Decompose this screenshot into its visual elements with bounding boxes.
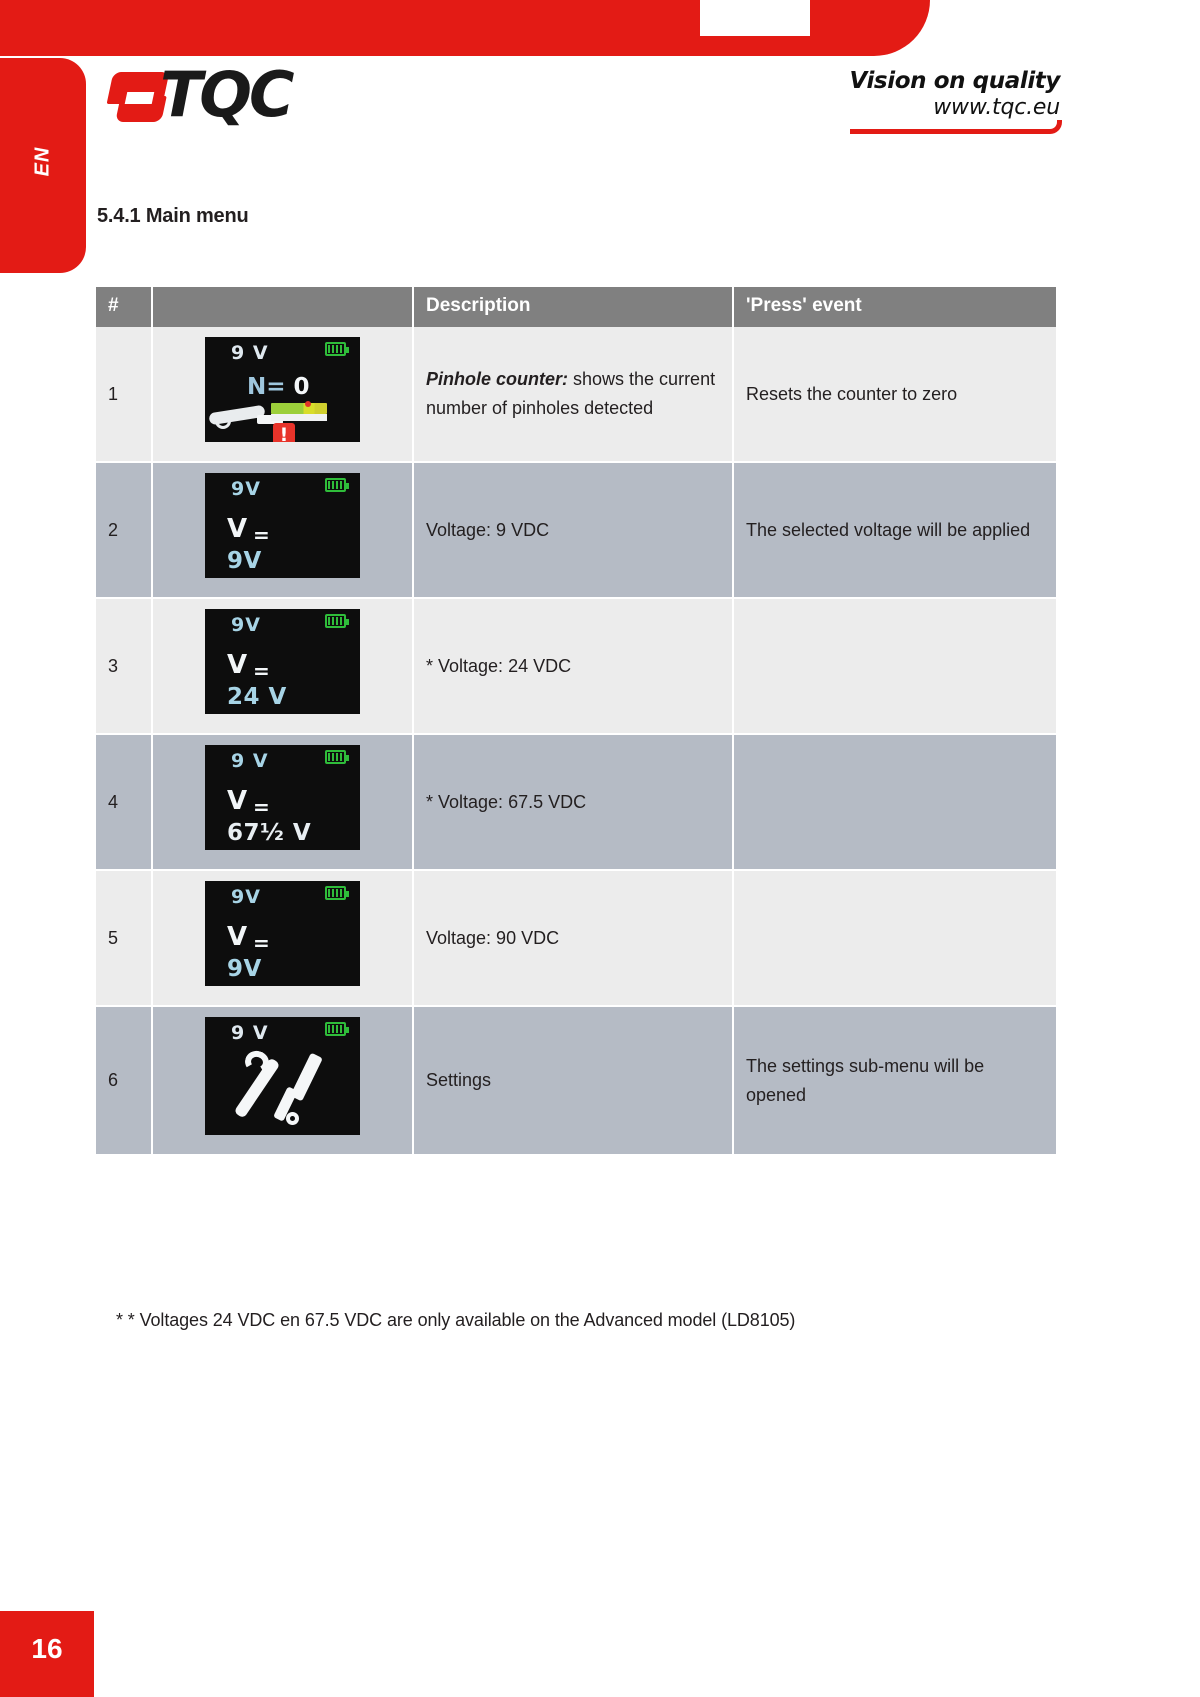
signal-bar-base: [271, 414, 327, 421]
column-header-screen: [152, 287, 413, 327]
lcd-v-symbol: V: [227, 651, 247, 680]
lcd-v-symbol: V: [227, 923, 247, 952]
tagline-swoosh-decoration: [850, 120, 1062, 134]
lcd-voltage-label: 9 V: [231, 339, 269, 368]
lcd-counter-value: 0: [294, 374, 310, 400]
row-number: 6: [96, 1006, 152, 1155]
lcd-counter-prefix: N=: [247, 374, 286, 400]
lcd-screen-settings: 9 V: [205, 1017, 360, 1135]
row-number: 5: [96, 870, 152, 1006]
alert-icon: [273, 423, 295, 442]
description-emphasis: Pinhole counter:: [426, 369, 568, 389]
row-screen-cell: 9 V V = 67½ V: [152, 734, 413, 870]
tqc-logo-mark-icon: [108, 72, 166, 122]
signal-bar-marker: [305, 401, 311, 407]
row-number: 1: [96, 327, 152, 462]
lcd-voltage-label: 9 V: [231, 747, 269, 776]
table-header-row: # Description 'Press' event: [96, 287, 1056, 327]
row-number: 3: [96, 598, 152, 734]
row-press-event: [733, 870, 1056, 1006]
row-press-event: [733, 598, 1056, 734]
signal-bar-indicator: [271, 403, 327, 414]
row-description: * Voltage: 24 VDC: [413, 598, 733, 734]
description-text: Voltage: 90 VDC: [426, 928, 559, 948]
row-number: 4: [96, 734, 152, 870]
brand-tagline: Vision on quality www.tqc.eu: [760, 68, 1060, 121]
table-row: 4 9 V V = 67½ V * Voltage: 67.5 VDC: [96, 734, 1056, 870]
banner-notch: [700, 0, 810, 36]
lcd-counter: N= 0: [247, 373, 310, 402]
main-menu-table: # Description 'Press' event 1 9 V N= 0: [96, 287, 1056, 1156]
row-description: Voltage: 9 VDC: [413, 462, 733, 598]
lcd-equals-symbol: =: [253, 657, 270, 686]
language-tab-en: EN: [0, 58, 86, 273]
row-description: Voltage: 90 VDC: [413, 870, 733, 1006]
tqc-logo-text: TQC: [160, 64, 292, 126]
row-screen-cell: 9 V: [152, 1006, 413, 1155]
lcd-voltage-label: 9V: [231, 611, 261, 640]
lcd-equals-symbol: =: [253, 521, 270, 550]
row-screen-cell: 9V V = 9V: [152, 870, 413, 1006]
table-row: 2 9V V = 9V Voltage: 9 VDC The selected …: [96, 462, 1056, 598]
table-row: 6 9 V Settings The settings sub-: [96, 1006, 1056, 1155]
column-header-press-event: 'Press' event: [733, 287, 1056, 327]
row-screen-cell: 9V V = 24 V: [152, 598, 413, 734]
battery-icon: [325, 478, 346, 492]
lcd-voltage-label: 9V: [231, 883, 261, 912]
row-press-event: The selected voltage will be applied: [733, 462, 1056, 598]
table-row: 1 9 V N= 0: [96, 327, 1056, 462]
page-number: 16: [0, 1633, 94, 1665]
description-text: * Voltage: 24 VDC: [426, 656, 571, 676]
lcd-voltage-label: 9V: [231, 475, 261, 504]
lcd-voltage-value: 9V: [227, 955, 262, 984]
description-text: * Voltage: 67.5 VDC: [426, 792, 586, 812]
table-row: 5 9V V = 9V Voltage: 90 VDC: [96, 870, 1056, 1006]
tqc-logo: TQC: [108, 66, 358, 128]
table-footnote: * * Voltages 24 VDC en 67.5 VDC are only…: [116, 1310, 1056, 1331]
row-description: Pinhole counter: shows the current numbe…: [413, 327, 733, 462]
page-number-box: 16: [0, 1611, 94, 1697]
tagline-line2-url: www.tqc.eu: [760, 95, 1060, 121]
row-press-event: The settings sub-menu will be opened: [733, 1006, 1056, 1155]
lcd-v-symbol: V: [227, 515, 247, 544]
page-title: 5.4.1 Main menu: [97, 205, 249, 228]
tagline-line1: Vision on quality: [760, 68, 1060, 95]
row-press-event: Resets the counter to zero: [733, 327, 1056, 462]
lcd-v-symbol: V: [227, 787, 247, 816]
description-text: Settings: [426, 1070, 491, 1090]
battery-icon: [325, 886, 346, 900]
lcd-screen-voltage-9v: 9V V = 9V: [205, 473, 360, 578]
lcd-screen-pinhole-counter: 9 V N= 0: [205, 337, 360, 442]
lcd-screen-voltage-675v: 9 V V = 67½ V: [205, 745, 360, 850]
lcd-voltage-value: 9V: [227, 547, 262, 576]
battery-icon: [325, 750, 346, 764]
row-description: Settings: [413, 1006, 733, 1155]
row-description: * Voltage: 67.5 VDC: [413, 734, 733, 870]
description-text: Voltage: 9 VDC: [426, 520, 549, 540]
top-red-banner: [0, 0, 930, 56]
tools-icon: [245, 1051, 321, 1127]
language-tab-label: EN: [32, 102, 55, 222]
lcd-screen-voltage-24v: 9V V = 24 V: [205, 609, 360, 714]
battery-icon: [325, 342, 346, 356]
row-screen-cell: 9V V = 9V: [152, 462, 413, 598]
row-number: 2: [96, 462, 152, 598]
column-header-number: #: [96, 287, 152, 327]
column-header-description: Description: [413, 287, 733, 327]
battery-icon: [325, 1022, 346, 1036]
lcd-screen-voltage-90v: 9V V = 9V: [205, 881, 360, 986]
row-press-event: [733, 734, 1056, 870]
lcd-voltage-label: 9 V: [231, 1019, 269, 1048]
battery-icon: [325, 614, 346, 628]
lcd-equals-symbol: =: [253, 793, 270, 822]
table-row: 3 9V V = 24 V * Voltage: 24 VDC: [96, 598, 1056, 734]
lcd-equals-symbol: =: [253, 929, 270, 958]
lcd-voltage-value: 67½ V: [227, 819, 311, 848]
row-screen-cell: 9 V N= 0: [152, 327, 413, 462]
lcd-voltage-value: 24 V: [227, 683, 287, 712]
